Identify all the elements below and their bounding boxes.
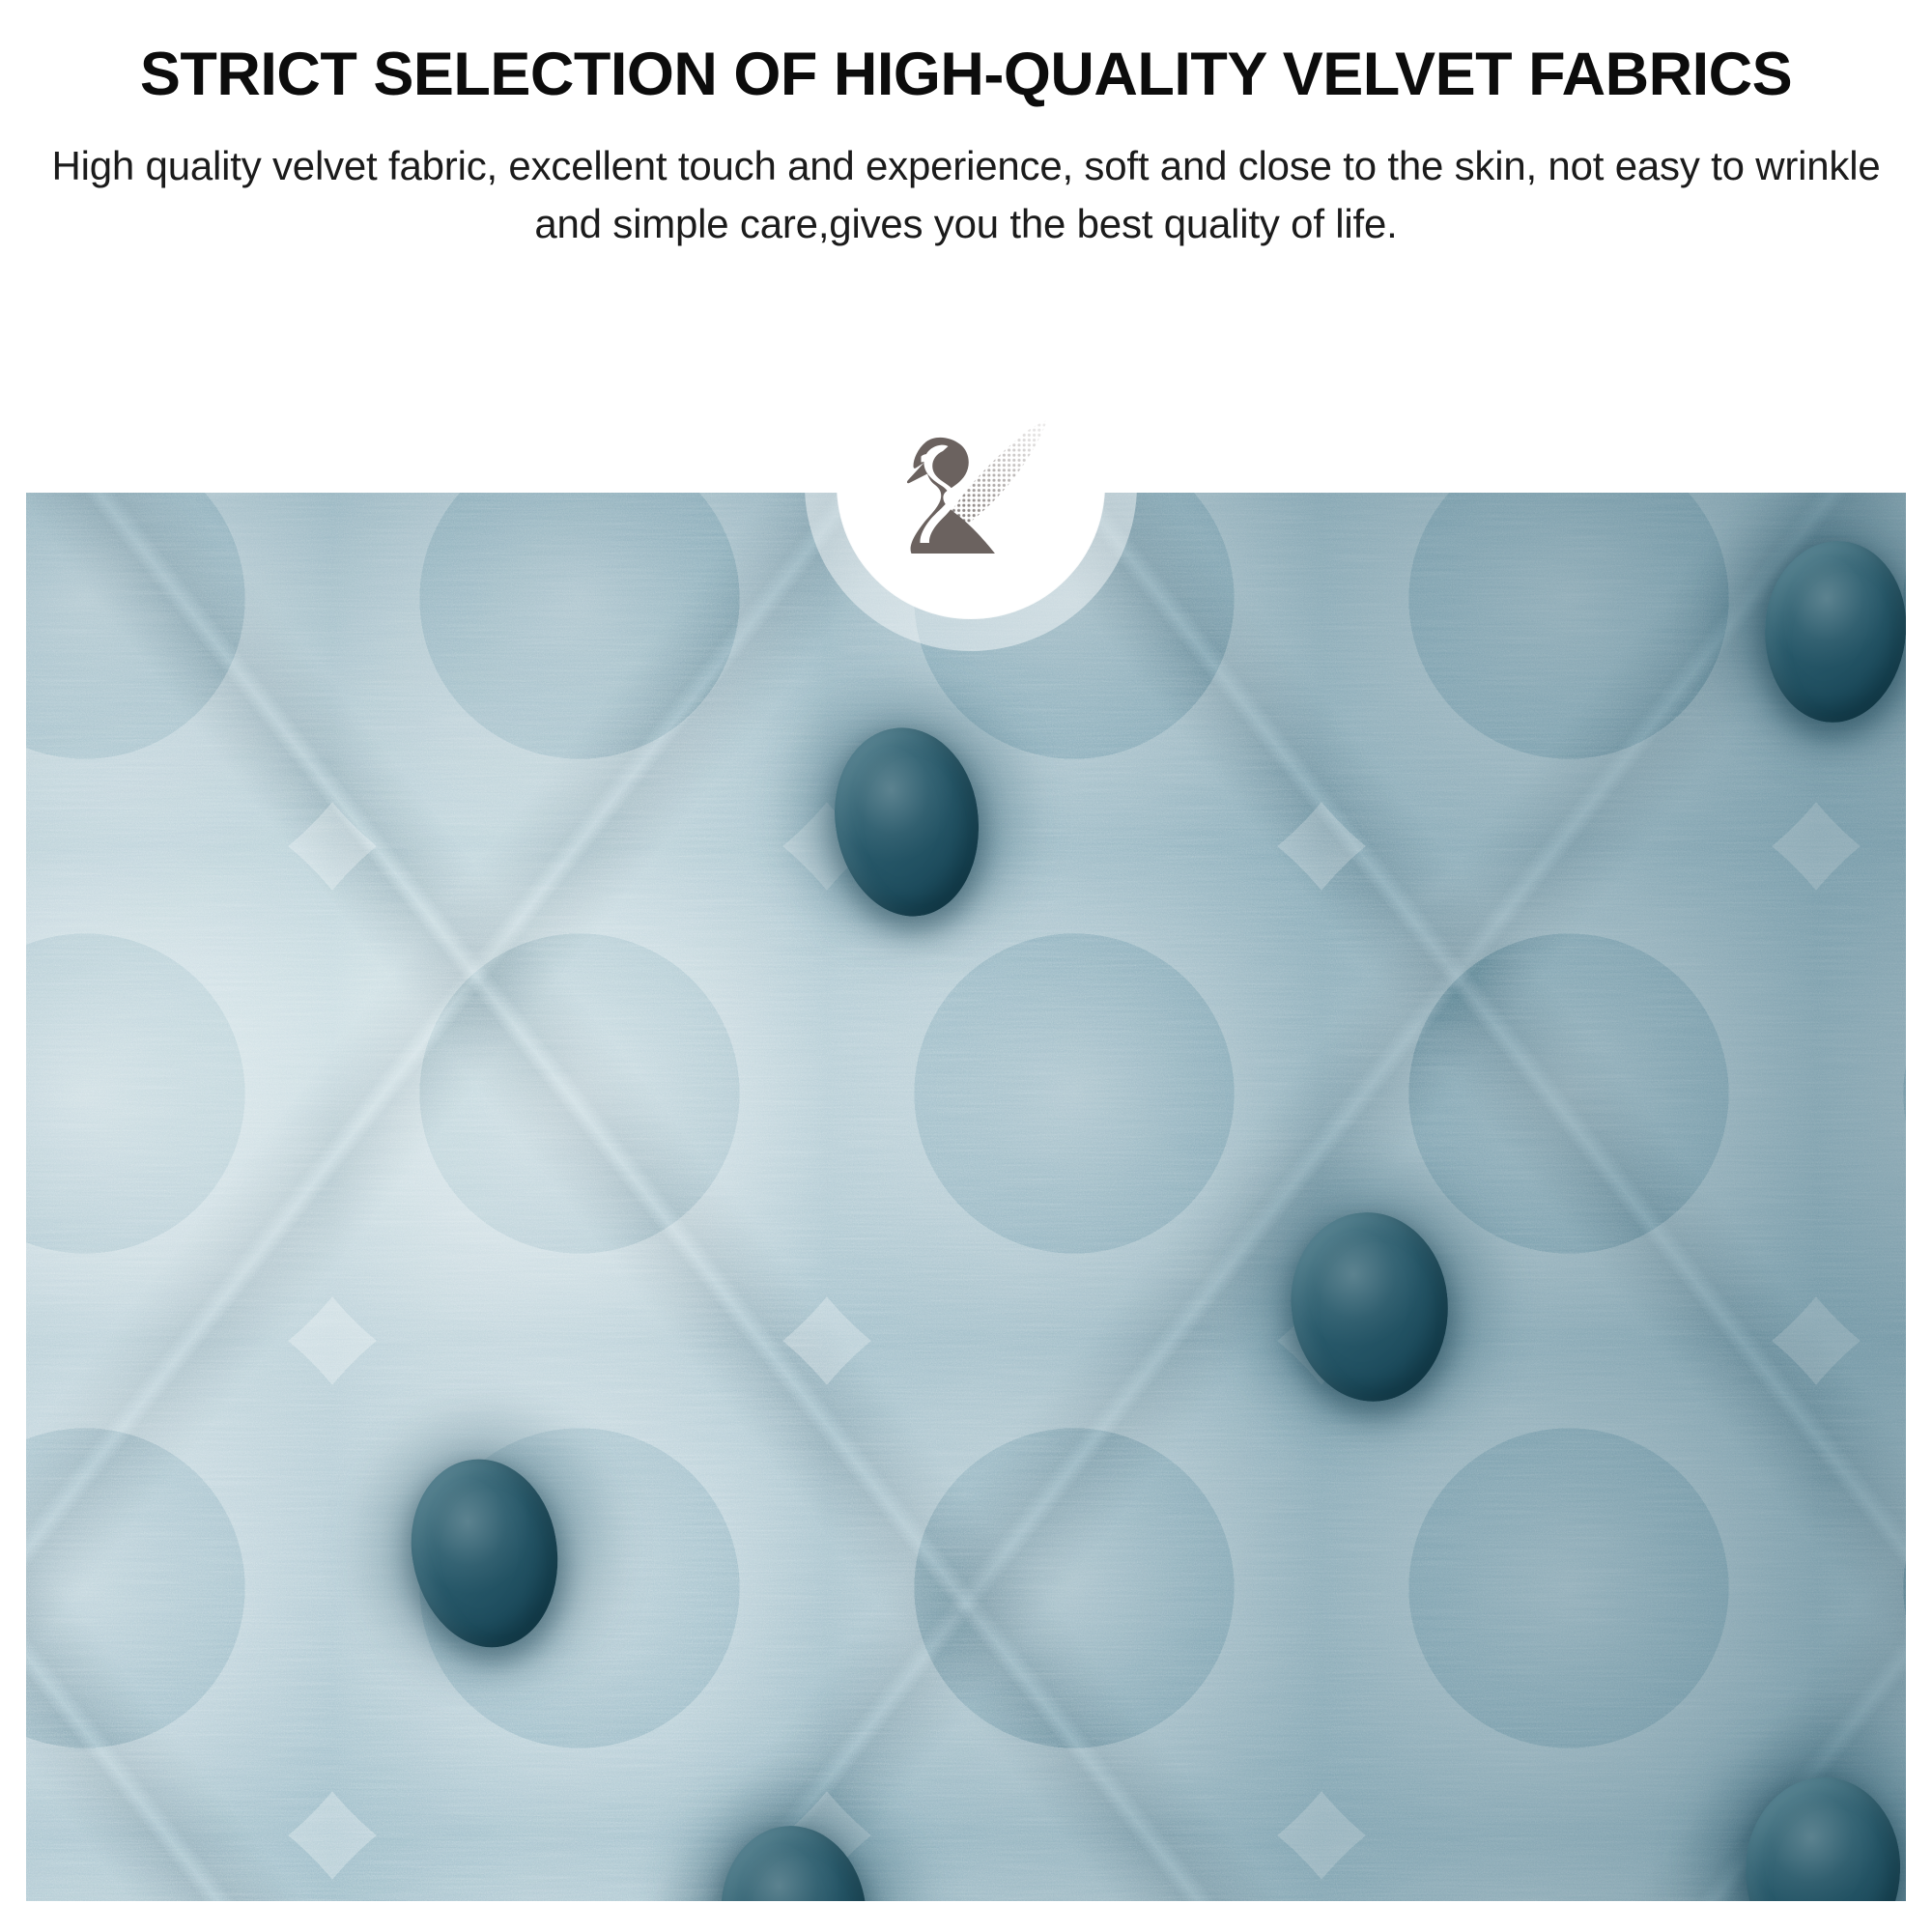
page-subtitle: High quality velvet fabric, excellent to… <box>48 137 1884 252</box>
page-title: STRICT SELECTION OF HIGH-QUALITY VELVET … <box>0 43 1932 106</box>
velvet-fabric-photo <box>26 493 1906 1901</box>
swan-icon <box>881 412 1061 557</box>
swan-logo-badge <box>805 319 1137 651</box>
swan-logo-badge-inner <box>838 352 1104 618</box>
subtitle-line-1: High quality velvet fabric, excellent to… <box>51 143 1604 188</box>
header: STRICT SELECTION OF HIGH-QUALITY VELVET … <box>0 0 1932 252</box>
